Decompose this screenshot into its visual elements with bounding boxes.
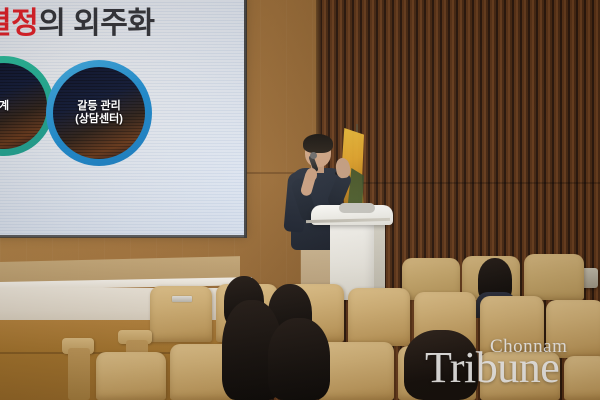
seat-front-5 (480, 352, 560, 400)
speaker-hair (303, 134, 333, 153)
audience-person-5-hair (268, 318, 330, 400)
screen-frame-right (244, 0, 247, 238)
slide-title: 결정의 외주화 (0, 0, 154, 42)
microphone-capsule (310, 152, 317, 159)
seat-mid-6 (480, 296, 544, 354)
slide-title-red: 결정 (0, 7, 38, 40)
seat-number-plate-1 (172, 296, 192, 302)
podium-side-panel (374, 224, 385, 298)
slide-circle-blue-label-line1: 갈등 관리 (77, 100, 121, 112)
slide-circle-blue-label: 갈등 관리 (상담센터) (71, 100, 127, 126)
seat-mid-1 (150, 286, 212, 342)
seat-front-6 (564, 356, 600, 400)
auditorium-lecture-photo: 결정의 외주화 계 갈등 관리 (상담센터) (0, 0, 600, 400)
seat-back-r3 (524, 254, 584, 300)
screen-frame-bottom (0, 235, 247, 238)
slide-circle-blue-label-line2: (상담센터) (75, 113, 123, 125)
armrest-post-2 (68, 348, 90, 400)
stage-platform (0, 288, 250, 324)
audience-person-6-hair (404, 330, 478, 400)
speaker-right-hand (306, 168, 317, 181)
slide-circle-green-label: 계 (0, 100, 13, 113)
seat-mid-7 (546, 300, 600, 358)
seat-mid-4 (348, 288, 410, 346)
slide-circle-blue: 갈등 관리 (상담센터) (46, 60, 152, 166)
seat-front-1 (96, 352, 166, 400)
podium-top-insert (339, 203, 375, 213)
slide-title-dark: 의 외주화 (38, 7, 154, 40)
projection-screen: 결정의 외주화 계 갈등 관리 (상담센터) (0, 0, 246, 237)
